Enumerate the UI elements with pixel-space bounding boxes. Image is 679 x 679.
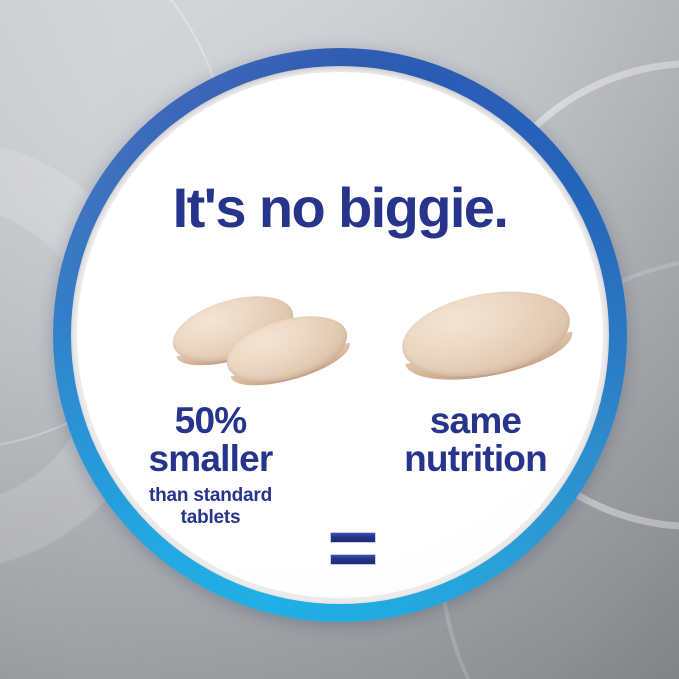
- one-large-tablet-icon: [395, 284, 595, 392]
- equals-bar-top: [330, 532, 376, 543]
- circular-badge: It's no biggie.: [53, 48, 627, 622]
- claim-right-headline: same: [348, 402, 603, 440]
- claim-left-headline: 50%: [81, 402, 340, 440]
- claim-left-detail-line-2: tablets: [81, 507, 340, 529]
- equals-icon: [330, 532, 376, 572]
- equals-bar-bottom: [330, 554, 376, 565]
- claim-left: 50% smaller than standard tablets: [77, 402, 340, 528]
- large-tablet: [395, 279, 577, 390]
- product-claim-graphic: It's no biggie.: [0, 0, 679, 679]
- claim-left-detail-line-1: than standard: [81, 485, 340, 507]
- two-small-tablets-icon: [169, 288, 369, 392]
- page-title: It's no biggie.: [77, 180, 603, 236]
- badge-face: It's no biggie.: [77, 72, 603, 598]
- badge-content: It's no biggie.: [77, 72, 603, 598]
- claim-left-subhead: smaller: [81, 440, 340, 478]
- tablet-comparison-row: [77, 284, 603, 394]
- claim-right: same nutrition: [340, 402, 603, 528]
- claims-row: 50% smaller than standard tablets same n…: [77, 402, 603, 528]
- claim-right-subhead: nutrition: [348, 440, 603, 478]
